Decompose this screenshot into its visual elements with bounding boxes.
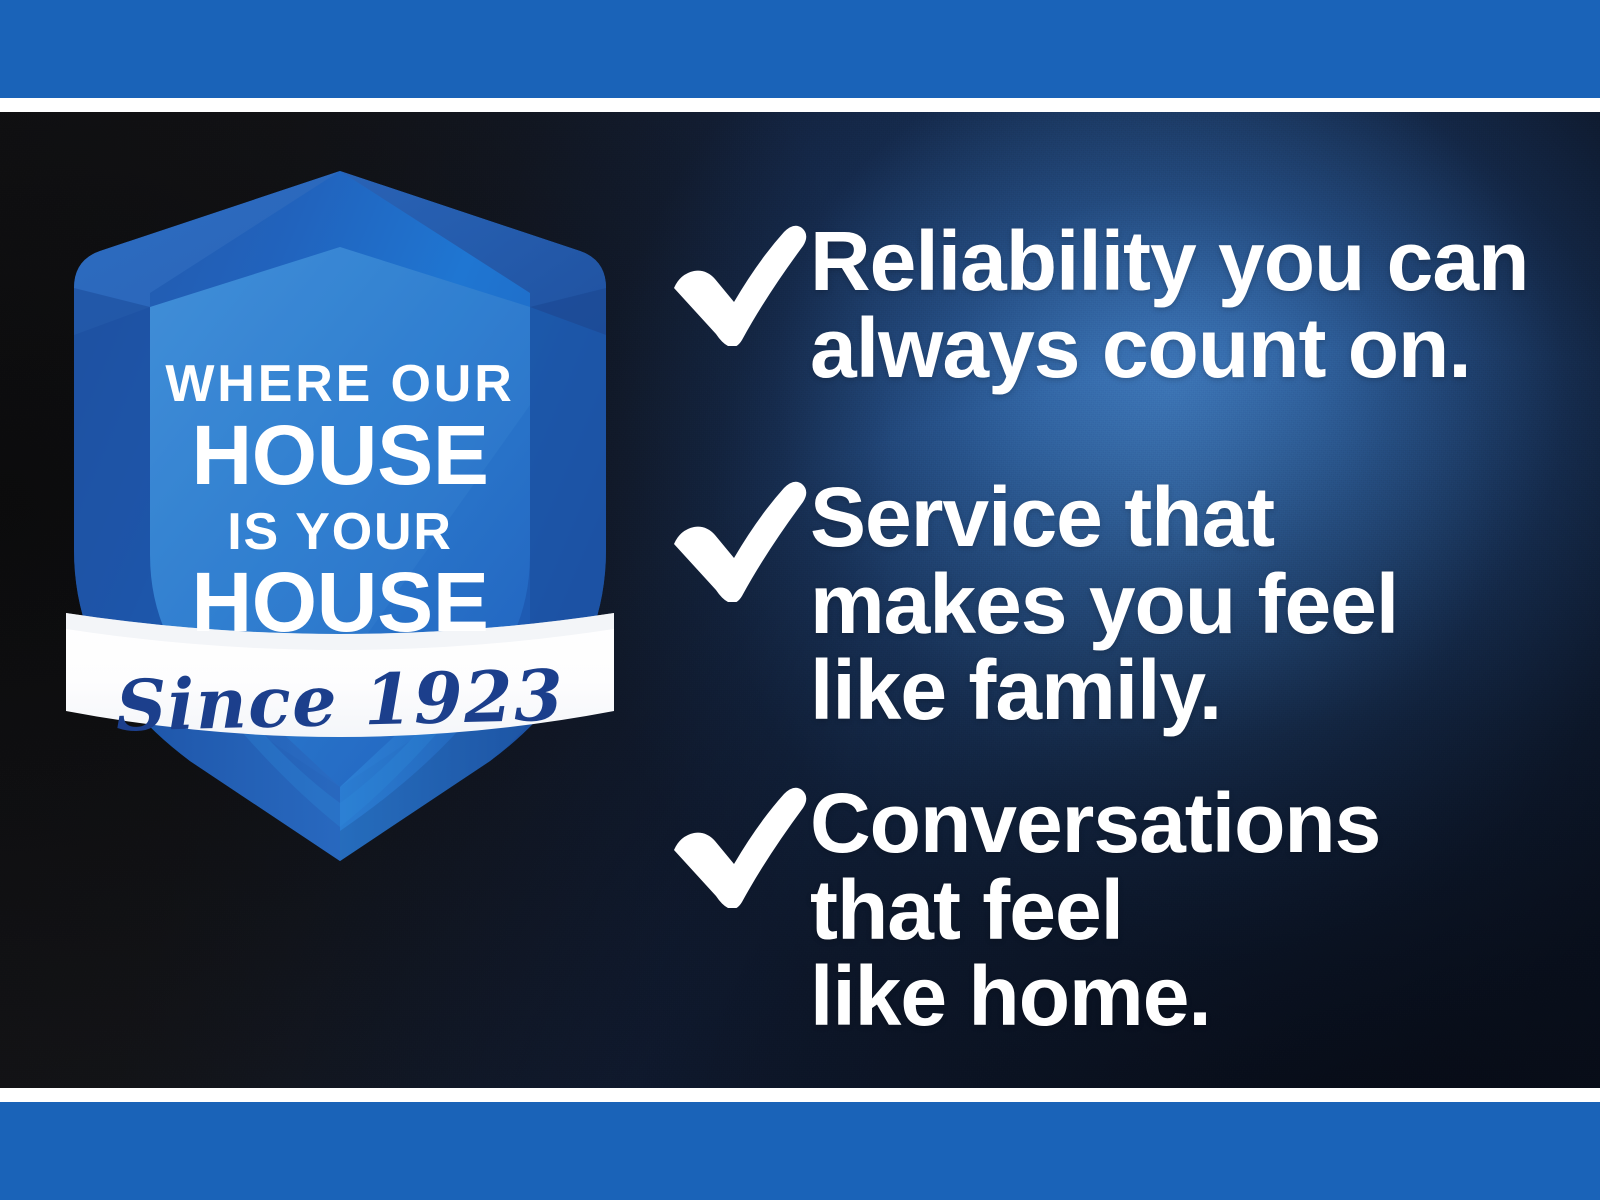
promo-graphic: Where our House is your House Since 1923… [0,0,1600,1200]
checkmark-icon [660,216,810,346]
top-white-stripe [0,98,1600,112]
benefit-text-service: Service that makes you feel like family. [810,468,1540,734]
shield-logo: Where our House is your House Since 1923 [60,155,620,815]
benefit-item-conversations: Conversations that feel like home. [660,774,1540,1040]
benefits-list: Reliability you can always count on. Ser… [660,112,1540,1088]
bottom-brand-band [0,1102,1600,1200]
benefit-text-reliability: Reliability you can always count on. [810,212,1540,391]
top-brand-band [0,0,1600,98]
bottom-white-stripe [0,1088,1600,1102]
benefit-item-service: Service that makes you feel like family. [660,468,1540,734]
benefit-item-reliability: Reliability you can always count on. [660,212,1540,391]
checkmark-icon [660,472,810,602]
benefit-text-conversations: Conversations that feel like home. [810,774,1540,1040]
checkmark-icon [660,778,810,908]
shield-icon [60,155,620,815]
shield-body [74,171,606,861]
